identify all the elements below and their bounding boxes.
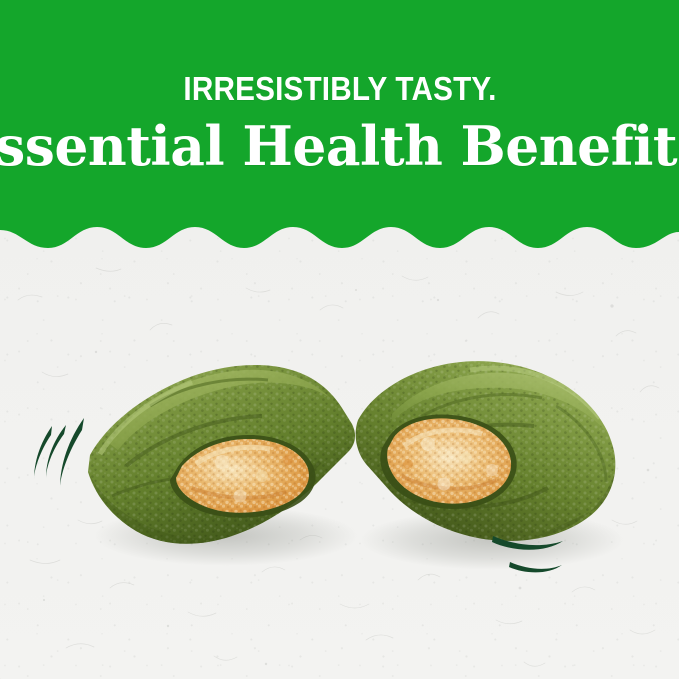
green-header-panel — [0, 0, 679, 258]
product-photo — [0, 248, 679, 679]
wave-edge-shape — [0, 0, 679, 248]
product-banner-card: IRRESISTIBLY TASTY. Essential Health Ben… — [0, 0, 679, 679]
